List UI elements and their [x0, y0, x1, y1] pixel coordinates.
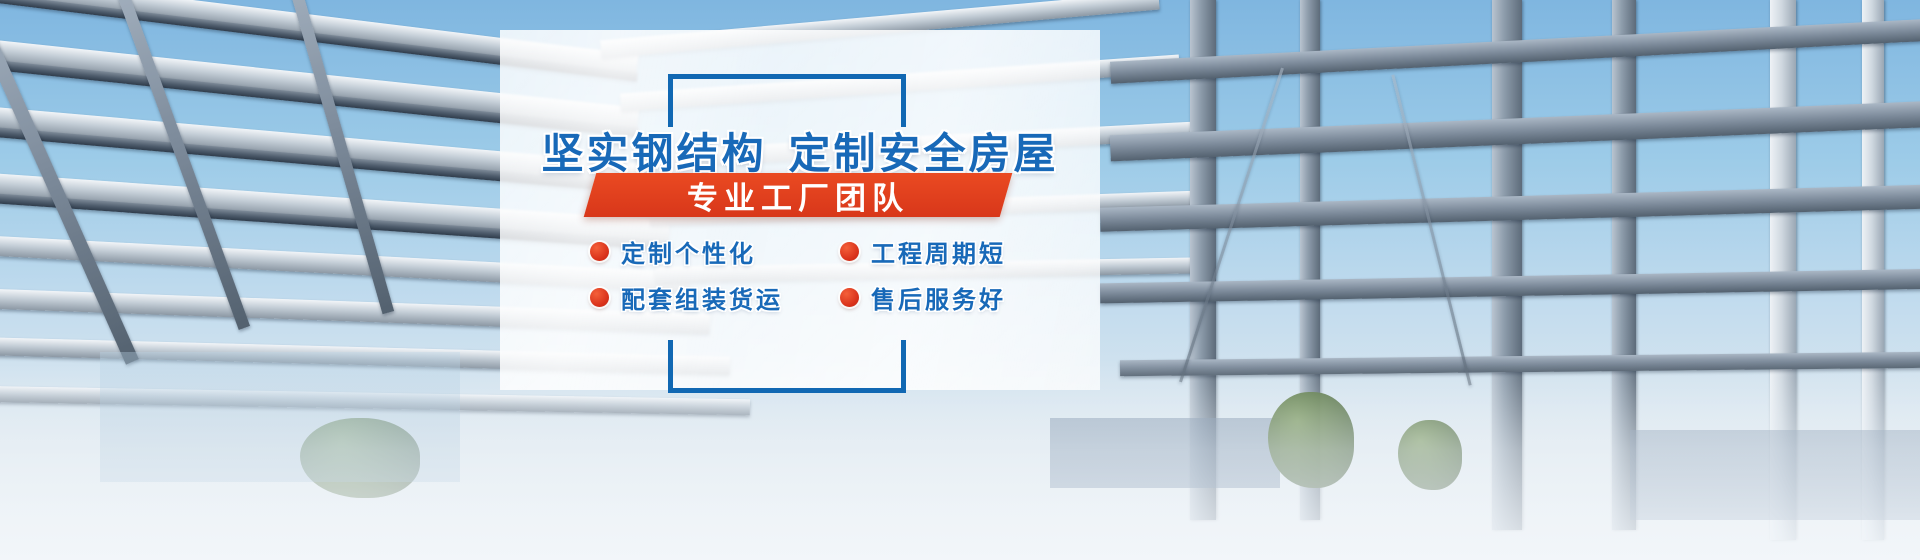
- status-badge: 专业工厂团队: [590, 173, 1006, 217]
- feature-label: 售后服务好: [871, 280, 1006, 315]
- hero-banner: 坚实钢结构定制安全房屋 专业工厂团队 定制个性化 工程周期短 配套组装货运 售后…: [0, 0, 1920, 560]
- ground-haze: [0, 360, 1920, 560]
- feature-row: 配套组装货运 售后服务好: [500, 274, 1100, 320]
- bullet-dot-icon: [590, 288, 609, 307]
- feature-list: 定制个性化 工程周期短 配套组装货运 售后服务好: [500, 228, 1100, 320]
- corner-bracket-bottom-icon: [668, 340, 906, 393]
- feature-label: 定制个性化: [621, 234, 756, 269]
- list-item: 售后服务好: [820, 280, 1090, 315]
- list-item: 工程周期短: [820, 234, 1090, 269]
- bullet-dot-icon: [840, 288, 859, 307]
- feature-row: 定制个性化 工程周期短: [500, 228, 1100, 274]
- bullet-dot-icon: [590, 242, 609, 261]
- list-item: 定制个性化: [500, 234, 820, 269]
- headline-part-2: 定制安全房屋: [789, 130, 1059, 177]
- feature-label: 配套组装货运: [621, 280, 783, 315]
- headline-part-1: 坚实钢结构: [541, 130, 766, 177]
- bullet-dot-icon: [840, 242, 859, 261]
- feature-label: 工程周期短: [871, 234, 1006, 269]
- list-item: 配套组装货运: [500, 280, 820, 315]
